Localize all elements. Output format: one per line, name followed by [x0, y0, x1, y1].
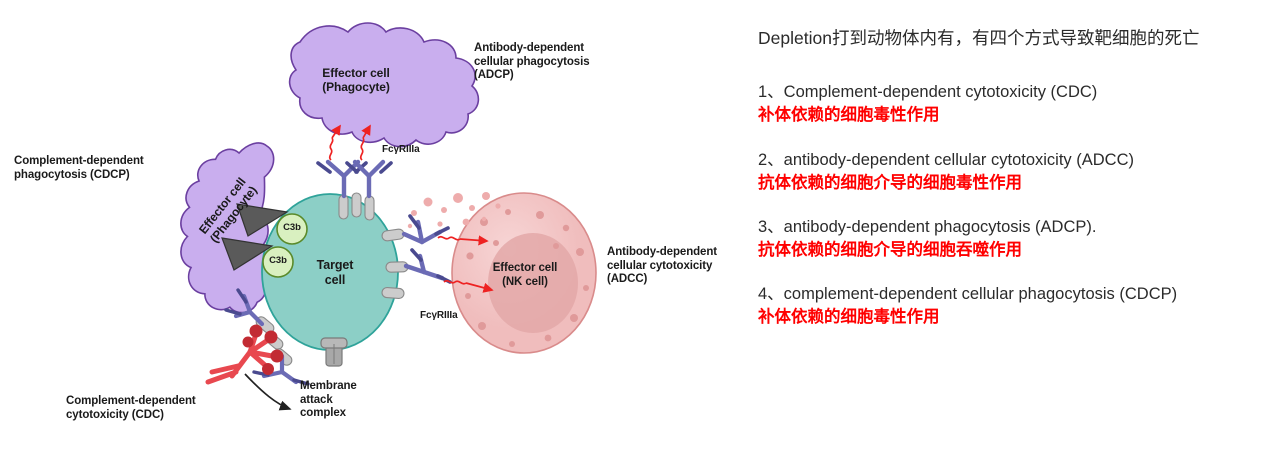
- notes-intro: Depletion打到动物体内有，有四个方式导致靶细胞的死亡: [758, 26, 1261, 51]
- note-item-1-en: 1、Complement-dependent cytotoxicity (CDC…: [758, 81, 1261, 103]
- antibody-adcc-1: [404, 216, 448, 242]
- note-item-1: 1、Complement-dependent cytotoxicity (CDC…: [758, 81, 1261, 126]
- note-item-2: 2、antibody-dependent cellular cytotoxici…: [758, 149, 1261, 194]
- label-adcc: Antibody-dependent cellular cytotoxicity…: [607, 246, 747, 287]
- label-c3b-lower: C3b: [263, 255, 293, 266]
- label-cdcp: Complement-dependent phagocytosis (CDCP): [14, 155, 182, 182]
- label-target-cell: Target cell: [300, 258, 370, 288]
- antibody-adcc-2: [406, 250, 450, 282]
- note-item-3: 3、antibody-dependent phagocytosis (ADCP)…: [758, 216, 1261, 261]
- label-effector-cell-nk: Effector cell (NK cell): [470, 262, 580, 289]
- membrane-attack-complex-arrow: [245, 374, 290, 409]
- label-fc-gamma-receptor-top: FcγRIIIa: [382, 144, 420, 156]
- immune-mechanism-diagram: Antibody-dependent cellular phagocytosis…: [0, 0, 740, 466]
- note-item-3-en: 3、antibody-dependent phagocytosis (ADCP)…: [758, 216, 1261, 238]
- note-item-2-en: 2、antibody-dependent cellular cytotoxici…: [758, 149, 1261, 171]
- membrane-attack-complex-pore: [321, 338, 347, 366]
- note-item-4-zh: 补体依赖的细胞毒性作用: [758, 306, 1261, 328]
- notes-panel: Depletion打到动物体内有，有四个方式导致靶细胞的死亡 1、Complem…: [748, 0, 1265, 466]
- note-item-1-zh: 补体依赖的细胞毒性作用: [758, 104, 1261, 126]
- note-item-4-en: 4、complement-dependent cellular phagocyt…: [758, 283, 1261, 305]
- label-adcp: Antibody-dependent cellular phagocytosis…: [474, 42, 624, 83]
- label-cdc: Complement-dependent cytotoxicity (CDC): [66, 395, 236, 422]
- label-fc-gamma-receptor-bottom: FcγRIIIa: [420, 310, 458, 322]
- label-membrane-attack-complex: Membrane attack complex: [300, 380, 380, 421]
- note-item-3-zh: 抗体依赖的细胞介导的细胞吞噬作用: [758, 239, 1261, 261]
- note-item-4: 4、complement-dependent cellular phagocyt…: [758, 283, 1261, 328]
- label-effector-cell-phagocyte-top: Effector cell (Phagocyte): [296, 66, 416, 94]
- note-item-2-zh: 抗体依赖的细胞介导的细胞毒性作用: [758, 172, 1261, 194]
- antibody-adcp-2: [347, 162, 391, 196]
- label-c3b-upper: C3b: [277, 222, 307, 233]
